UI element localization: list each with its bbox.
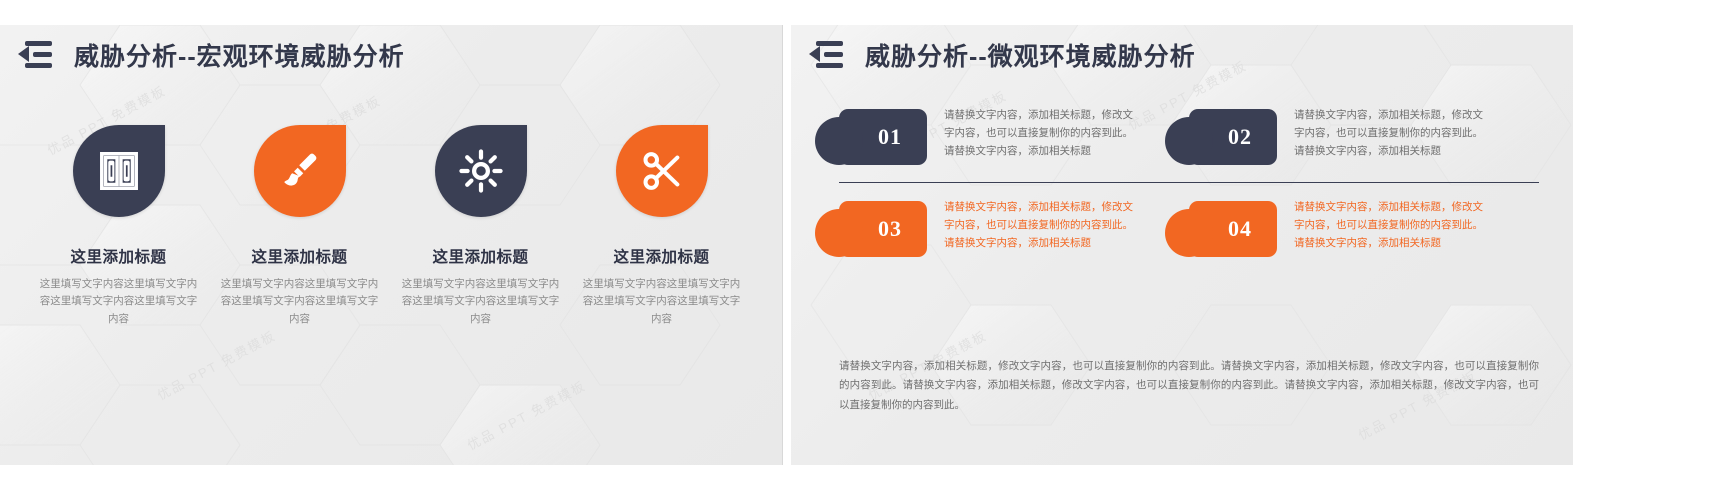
badge-text: 请替换文字内容，添加相关标题，修改文字内容，也可以直接复制你的内容到此。请替换文… <box>944 195 1140 252</box>
right-slide-header: 威胁分析--微观环境威胁分析 <box>809 37 1196 73</box>
feature-card-row: 这里添加标题 这里填写文字内容这里填写文字内容这里填写文字内容这里填写文字内容 … <box>28 125 754 328</box>
card-body: 这里填写文字内容这里填写文字内容这里填写文字内容这里填写文字内容 <box>401 276 561 328</box>
badge-number: 01 <box>864 124 902 150</box>
number-badge: 04 <box>1189 201 1277 257</box>
card-title: 这里添加标题 <box>432 245 528 267</box>
badge-item[interactable]: 04 请替换文字内容，添加相关标题，修改文字内容，也可以直接复制你的内容到此。请… <box>1189 195 1539 257</box>
watermark-text: 优品 PPT 免费模板 <box>463 375 589 454</box>
badge-text: 请替换文字内容，添加相关标题，修改文字内容，也可以直接复制你的内容到此。请替换文… <box>1294 103 1490 160</box>
number-badge: 03 <box>839 201 927 257</box>
sun-brightness-icon <box>458 148 504 194</box>
badge-text: 请替换文字内容，添加相关标题，修改文字内容，也可以直接复制你的内容到此。请替换文… <box>944 103 1140 160</box>
card-title: 这里添加标题 <box>251 245 347 267</box>
card-body: 这里填写文字内容这里填写文字内容这里填写文字内容这里填写文字内容 <box>39 276 199 328</box>
card-title: 这里添加标题 <box>613 245 709 267</box>
page-title: 威胁分析--微观环境威胁分析 <box>865 37 1196 73</box>
number-badge: 01 <box>839 109 927 165</box>
badge-item[interactable]: 03 请替换文字内容，添加相关标题，修改文字内容，也可以直接复制你的内容到此。请… <box>839 195 1189 257</box>
numbered-badge-grid: 01 请替换文字内容，添加相关标题，修改文字内容，也可以直接复制你的内容到此。请… <box>839 103 1539 257</box>
feature-card[interactable]: 这里添加标题 这里填写文字内容这里填写文字内容这里填写文字内容这里填写文字内容 <box>28 125 209 328</box>
align-left-collapse-icon <box>18 40 52 70</box>
left-slide-header: 威胁分析--宏观环境威胁分析 <box>18 37 405 73</box>
card-title: 这里添加标题 <box>70 245 166 267</box>
page-title: 威胁分析--宏观环境威胁分析 <box>74 37 405 73</box>
badge-number: 02 <box>1214 124 1252 150</box>
card-body: 这里填写文字内容这里填写文字内容这里填写文字内容这里填写文字内容 <box>582 276 742 328</box>
footer-paragraph: 请替换文字内容，添加相关标题，修改文字内容，也可以直接复制你的内容到此。请替换文… <box>839 357 1539 415</box>
feature-card[interactable]: 这里添加标题 这里填写文字内容这里填写文字内容这里填写文字内容这里填写文字内容 <box>209 125 390 328</box>
right-slide: 优品 PPT 免费模板 优品 PPT 免费模板 优品 PPT 免费模板 优品 P… <box>791 25 1573 465</box>
number-badge: 02 <box>1189 109 1277 165</box>
badge-text: 请替换文字内容，添加相关标题，修改文字内容，也可以直接复制你的内容到此。请替换文… <box>1294 195 1490 252</box>
watermark-text: 优品 PPT 免费模板 <box>153 325 279 404</box>
slide-pair-canvas: 优品 PPT 免费模板 优品 PPT 免费模板 优品 PPT 免费模板 优品 P… <box>0 0 1720 490</box>
left-slide: 优品 PPT 免费模板 优品 PPT 免费模板 优品 PPT 免费模板 优品 P… <box>0 25 782 465</box>
badge-row: 03 请替换文字内容，添加相关标题，修改文字内容，也可以直接复制你的内容到此。请… <box>839 195 1539 257</box>
feature-card[interactable]: 这里添加标题 这里填写文字内容这里填写文字内容这里填写文字内容这里填写文字内容 <box>390 125 571 328</box>
feature-card[interactable]: 这里添加标题 这里填写文字内容这里填写文字内容这里填写文字内容这里填写文字内容 <box>571 125 752 328</box>
icon-badge <box>254 125 346 217</box>
badge-item[interactable]: 01 请替换文字内容，添加相关标题，修改文字内容，也可以直接复制你的内容到此。请… <box>839 103 1189 165</box>
badge-item[interactable]: 02 请替换文字内容，添加相关标题，修改文字内容，也可以直接复制你的内容到此。请… <box>1189 103 1539 165</box>
paintbrush-icon <box>277 148 323 194</box>
card-body: 这里填写文字内容这里填写文字内容这里填写文字内容这里填写文字内容 <box>220 276 380 328</box>
badge-row: 01 请替换文字内容，添加相关标题，修改文字内容，也可以直接复制你的内容到此。请… <box>839 103 1539 165</box>
scissors-icon <box>639 148 685 194</box>
badge-number: 03 <box>864 216 902 242</box>
icon-badge <box>73 125 165 217</box>
badge-number: 04 <box>1214 216 1252 242</box>
align-left-collapse-icon <box>809 40 843 70</box>
columns-layout-icon <box>96 148 142 194</box>
icon-badge <box>616 125 708 217</box>
icon-badge <box>435 125 527 217</box>
horizontal-rule <box>839 182 1539 183</box>
